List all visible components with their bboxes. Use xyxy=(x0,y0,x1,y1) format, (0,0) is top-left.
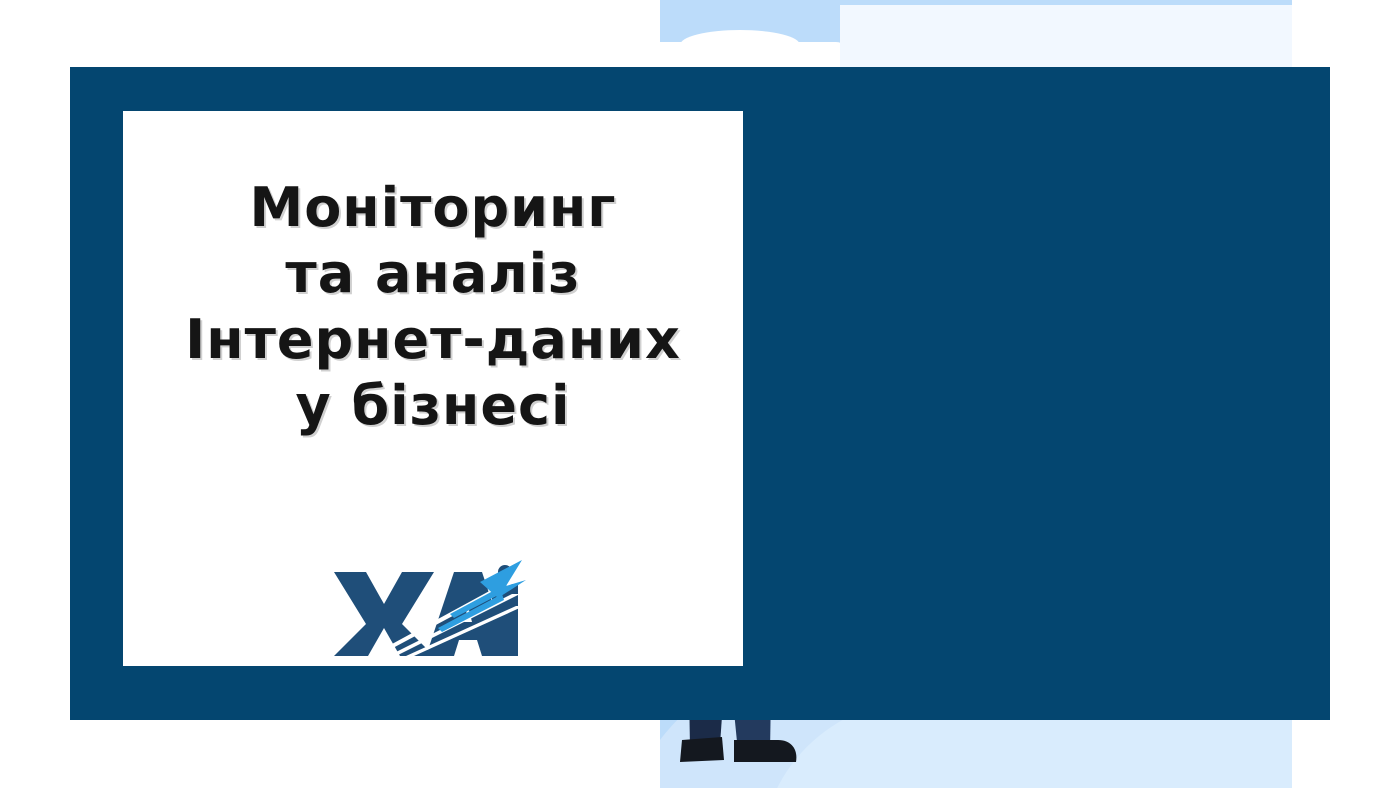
poster-root: Моніторинг та аналіз Інтернет-даних у бі… xyxy=(0,0,1400,788)
khai-logo: Національний аерокосмічний університет Х… xyxy=(330,552,530,662)
title-line-4: у бізнесі xyxy=(123,373,743,439)
title-line-1: Моніторинг xyxy=(123,175,743,241)
title-line-3: Інтернет-даних xyxy=(123,307,743,373)
title-line-2: та аналіз xyxy=(123,241,743,307)
page-title: Моніторинг та аналіз Інтернет-даних у бі… xyxy=(123,175,743,439)
